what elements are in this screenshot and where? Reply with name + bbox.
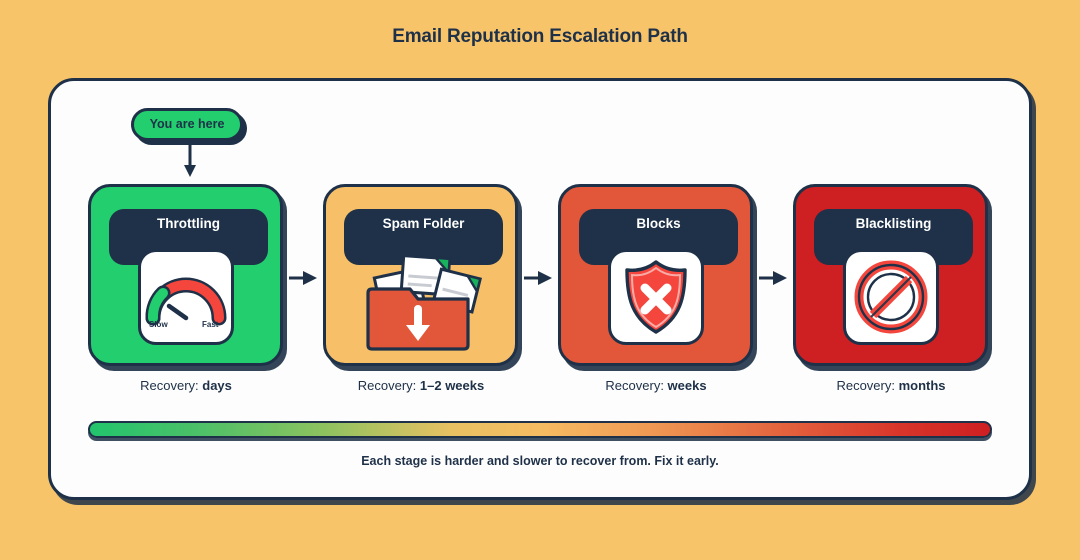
arrow-right-icon	[289, 270, 319, 286]
connector-arrow-2	[520, 268, 558, 288]
shield-x-icon	[608, 249, 704, 345]
recovery-prefix: Recovery:	[140, 378, 202, 393]
recovery-value: weeks	[668, 378, 707, 393]
stage-card-blocks[interactable]: Blocks	[558, 184, 753, 366]
stage-card-spam-folder[interactable]: Spam Folder	[323, 184, 518, 366]
recovery-label-spam-folder: Recovery: 1–2 weeks	[306, 378, 536, 393]
speedometer-icon: Slow Fast	[138, 249, 234, 345]
footer-caption: Each stage is harder and slower to recov…	[48, 454, 1032, 468]
stage-card-throttling[interactable]: Throttling Slow Fast	[88, 184, 283, 366]
recovery-label-blocks: Recovery: weeks	[541, 378, 771, 393]
recovery-prefix: Recovery:	[836, 378, 898, 393]
connector-arrow-1	[285, 268, 323, 288]
stage-card-blacklisting[interactable]: Blacklisting	[793, 184, 988, 366]
prohibition-sign-icon	[843, 249, 939, 345]
recovery-value: 1–2 weeks	[420, 378, 484, 393]
arrow-right-icon	[759, 270, 789, 286]
folder-download-icon	[351, 239, 491, 355]
recovery-prefix: Recovery:	[605, 378, 667, 393]
you-are-here-marker: You are here	[131, 108, 243, 141]
recovery-label-throttling: Recovery: days	[71, 378, 301, 393]
connector-arrow-3	[755, 268, 793, 288]
recovery-value: months	[899, 378, 946, 393]
severity-gradient-bar	[88, 421, 992, 438]
arrow-right-icon	[524, 270, 554, 286]
page-title: Email Reputation Escalation Path	[0, 26, 1080, 48]
recovery-value: days	[202, 378, 232, 393]
gauge-high-label: Fast	[202, 320, 219, 328]
recovery-prefix: Recovery:	[358, 378, 420, 393]
you-are-here-badge: You are here	[131, 108, 243, 141]
arrow-down-icon	[183, 144, 197, 183]
recovery-label-blacklisting: Recovery: months	[776, 378, 1006, 393]
gauge-low-label: Slow	[149, 320, 168, 328]
